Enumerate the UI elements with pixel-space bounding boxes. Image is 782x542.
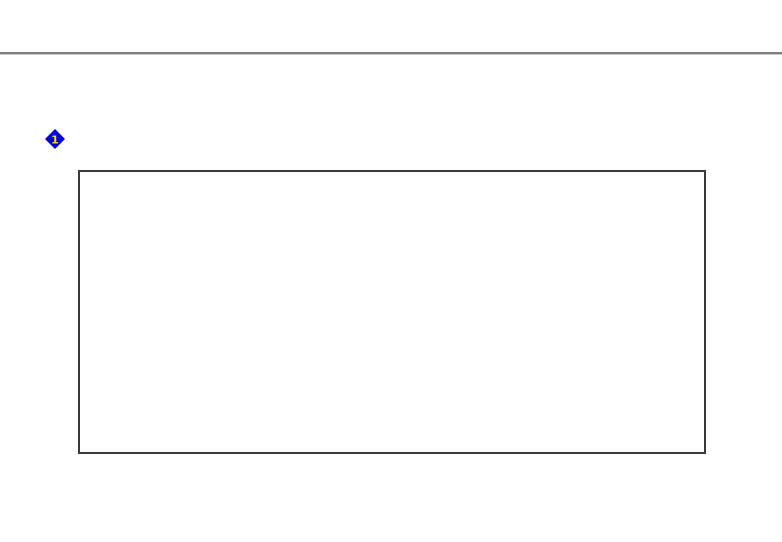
plot-frame [78, 170, 706, 454]
scatter-plot-canvas [80, 172, 704, 452]
y-axis-ticklabels [0, 0, 74, 542]
x-axis-ticklabels [78, 458, 706, 478]
top-date-axis [78, 82, 706, 168]
header-divider-shadow [0, 54, 782, 55]
